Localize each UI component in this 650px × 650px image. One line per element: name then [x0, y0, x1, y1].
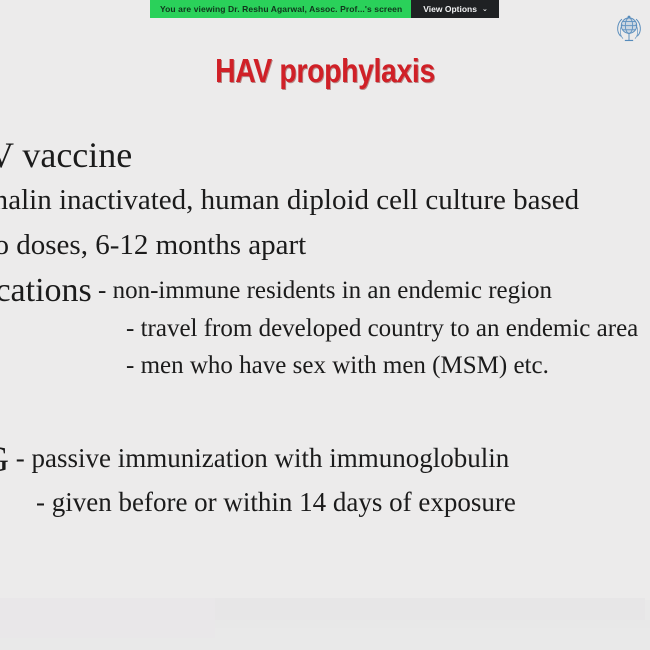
slide-background-band — [0, 620, 650, 628]
chevron-down-icon: ⌄ — [482, 6, 488, 13]
indications-heading: dications — [0, 272, 92, 309]
slide-title: HAV prophylaxis — [46, 52, 605, 90]
screen-share-viewport: You are viewing Dr. Reshu Agarwal, Assoc… — [0, 0, 650, 650]
slide-line-msm: - men who have sex with men (MSM) etc. — [126, 352, 549, 380]
ig-heading: G — [0, 439, 9, 479]
slide-background-band — [0, 598, 645, 620]
view-options-label: View Options — [423, 4, 477, 14]
ig-description: - passive immunization with immunoglobul… — [9, 443, 509, 473]
slide-line-hav-vaccine: V vaccine — [0, 134, 132, 176]
screen-share-banner: You are viewing Dr. Reshu Agarwal, Assoc… — [150, 0, 499, 18]
share-status-label: You are viewing Dr. Reshu Agarwal, Assoc… — [150, 0, 411, 18]
slide-line-travel: - travel from developed country to an en… — [126, 315, 638, 343]
slide-line-formalin-inactivated: rmalin inactivated, human diploid cell c… — [0, 184, 579, 217]
slide-line-indications: dications - non-immune residents in an e… — [0, 272, 552, 310]
slide-background-band — [0, 598, 215, 638]
slide-line-given-before: - given before or within 14 days of expo… — [36, 487, 516, 518]
view-options-button[interactable]: View Options ⌄ — [411, 0, 499, 18]
slide-line-ig: G - passive immunization with immunoglob… — [0, 438, 509, 480]
indications-first-item: - non-immune residents in an endemic reg… — [92, 277, 552, 304]
slide-line-two-doses: vo doses, 6-12 months apart — [0, 229, 306, 262]
who-emblem-icon — [610, 9, 648, 47]
